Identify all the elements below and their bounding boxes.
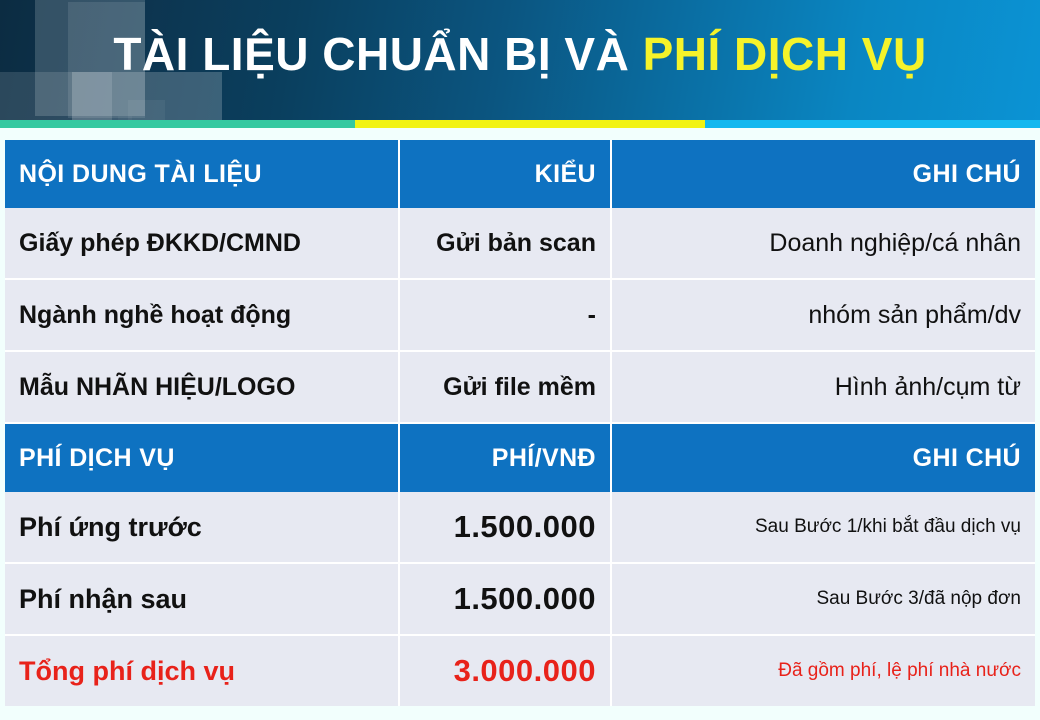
accent-bar xyxy=(0,120,1040,128)
fees-header-note: GHI CHÚ xyxy=(611,423,1035,492)
document-content: Mẫu NHÃN HIỆU/LOGO xyxy=(5,351,399,423)
total-label: Tổng phí dịch vụ xyxy=(5,635,399,706)
documents-header-row: NỘI DUNG TÀI LIỆU KIỂU GHI CHÚ xyxy=(5,140,1035,208)
table-row: Ngành nghề hoạt động - nhóm sản phẩm/dv xyxy=(5,279,1035,351)
page-title-main: TÀI LIỆU CHUẨN BỊ VÀ xyxy=(113,28,642,80)
header-banner: TÀI LIỆU CHUẨN BỊ VÀ PHÍ DỊCH VỤ xyxy=(0,0,1040,120)
fees-header-type: PHÍ/VNĐ xyxy=(399,423,611,492)
fee-amount: 1.500.000 xyxy=(399,492,611,563)
fees-header-content: PHÍ DỊCH VỤ xyxy=(5,423,399,492)
fees-header-row: PHÍ DỊCH VỤ PHÍ/VNĐ GHI CHÚ xyxy=(5,423,1035,492)
total-note: Đã gồm phí, lệ phí nhà nước xyxy=(611,635,1035,706)
fee-content: Phí nhận sau xyxy=(5,563,399,635)
document-content: Giấy phép ĐKKD/CMND xyxy=(5,208,399,279)
table-row: Phí ứng trước 1.500.000 Sau Bước 1/khi b… xyxy=(5,492,1035,563)
document-content: Ngành nghề hoạt động xyxy=(5,279,399,351)
document-type: Gửi bản scan xyxy=(399,208,611,279)
table-row: Phí nhận sau 1.500.000 Sau Bước 3/đã nộp… xyxy=(5,563,1035,635)
fee-note: Sau Bước 3/đã nộp đơn xyxy=(611,563,1035,635)
table-row: Mẫu NHÃN HIỆU/LOGO Gửi file mềm Hình ảnh… xyxy=(5,351,1035,423)
total-row: Tổng phí dịch vụ 3.000.000 Đã gồm phí, l… xyxy=(5,635,1035,706)
table-row: Giấy phép ĐKKD/CMND Gửi bản scan Doanh n… xyxy=(5,208,1035,279)
accent-bar-cyan-segment xyxy=(705,120,1040,128)
documents-and-fees-table: NỘI DUNG TÀI LIỆU KIỂU GHI CHÚ Giấy phép… xyxy=(5,140,1035,706)
fee-content: Phí ứng trước xyxy=(5,492,399,563)
fee-note: Sau Bước 1/khi bắt đầu dịch vụ xyxy=(611,492,1035,563)
slide: TÀI LIỆU CHUẨN BỊ VÀ PHÍ DỊCH VỤ NỘI DUN… xyxy=(0,0,1040,720)
page-title-highlight: PHÍ DỊCH VỤ xyxy=(643,28,927,80)
accent-bar-teal-segment xyxy=(0,120,355,128)
documents-header-note: GHI CHÚ xyxy=(611,140,1035,208)
document-note: nhóm sản phẩm/dv xyxy=(611,279,1035,351)
page-title: TÀI LIỆU CHUẨN BỊ VÀ PHÍ DỊCH VỤ xyxy=(0,26,1040,84)
documents-header-type: KIỂU xyxy=(399,140,611,208)
document-type: - xyxy=(399,279,611,351)
total-amount: 3.000.000 xyxy=(399,635,611,706)
document-type: Gửi file mềm xyxy=(399,351,611,423)
accent-bar-yellow-segment xyxy=(355,120,705,128)
fee-amount: 1.500.000 xyxy=(399,563,611,635)
documents-header-content: NỘI DUNG TÀI LIỆU xyxy=(5,140,399,208)
decorative-rectangle-f xyxy=(128,100,165,120)
document-note: Hình ảnh/cụm từ xyxy=(611,351,1035,423)
document-note: Doanh nghiệp/cá nhân xyxy=(611,208,1035,279)
